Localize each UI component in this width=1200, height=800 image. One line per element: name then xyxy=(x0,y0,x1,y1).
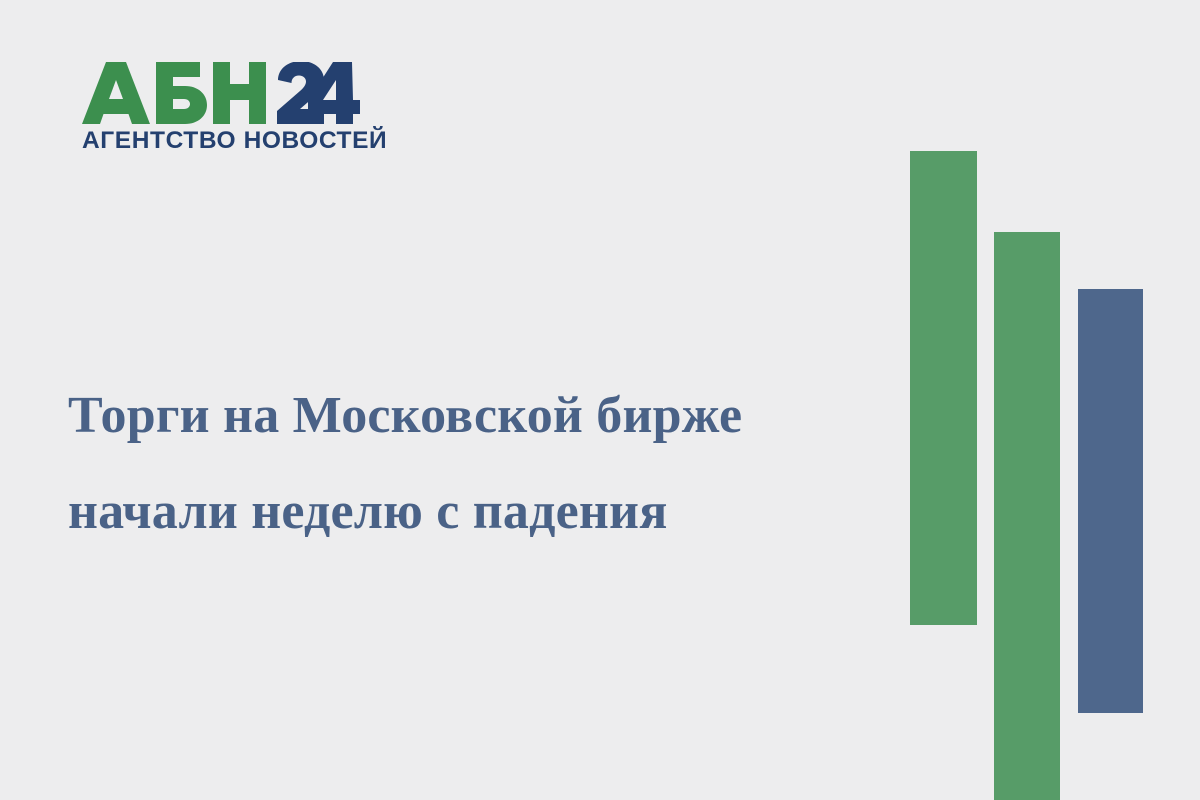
headline-line-1: Торги на Московской бирже xyxy=(68,368,868,464)
logo[interactable]: АГЕНТСТВО НОВОСТЕЙ xyxy=(82,62,382,154)
bar-2 xyxy=(994,232,1060,800)
logo-tagline: АГЕНТСТВО НОВОСТЕЙ xyxy=(82,129,382,154)
headline-line-2: начали неделю с падения xyxy=(68,464,868,560)
bar-1 xyxy=(910,151,977,625)
logo-wordmark-abn24 xyxy=(82,62,360,124)
bar-3 xyxy=(1078,289,1143,713)
news-card: АГЕНТСТВО НОВОСТЕЙ Торги на Московской б… xyxy=(0,0,1200,800)
page-title: Торги на Московской бирже начали неделю … xyxy=(68,368,868,560)
